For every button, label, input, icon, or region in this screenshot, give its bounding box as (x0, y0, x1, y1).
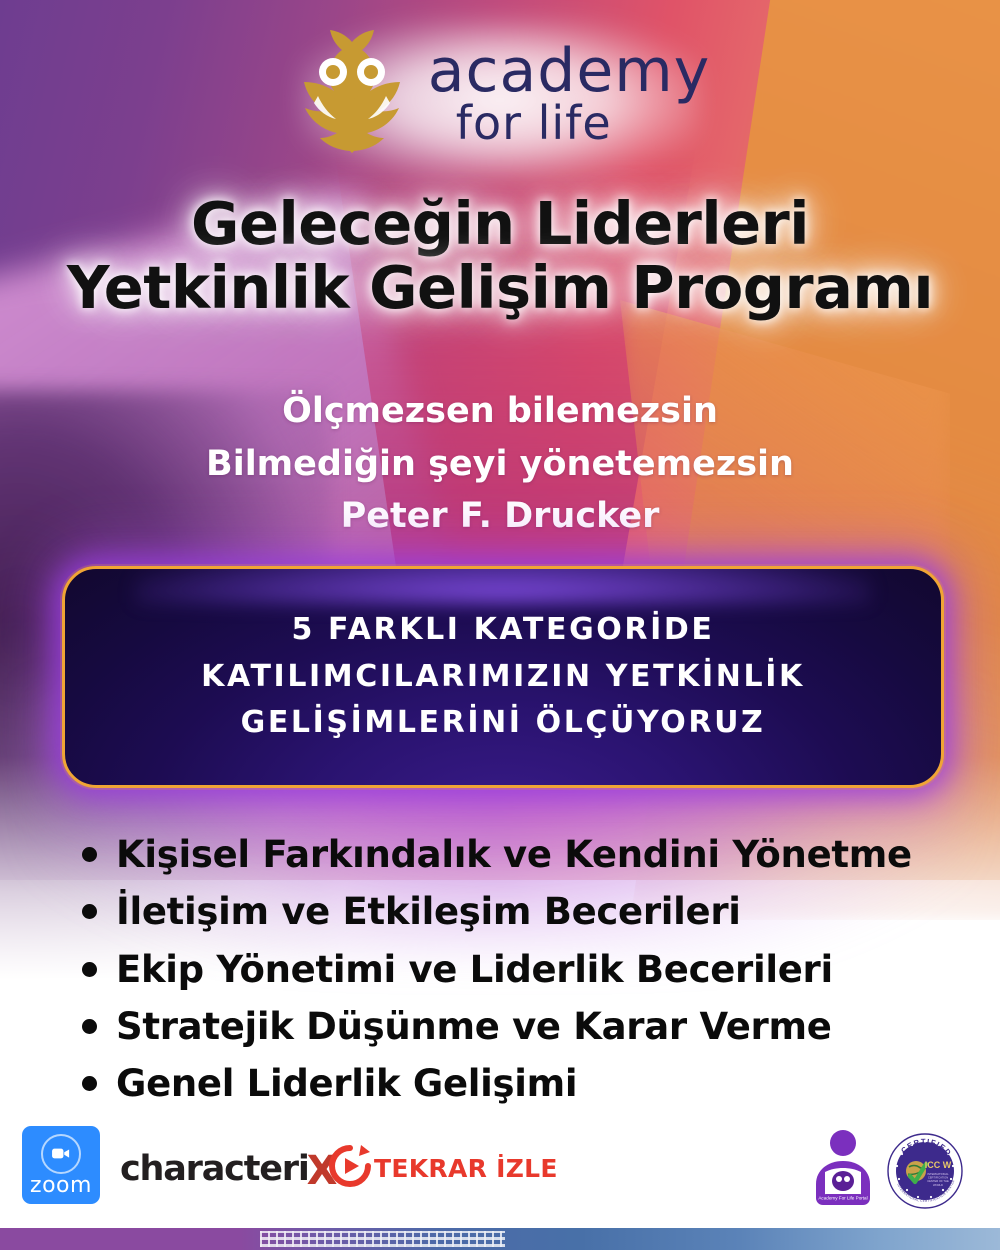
zoom-logo[interactable]: zoom (22, 1126, 100, 1204)
banner-line-3: GELİŞİMLERİNİ ÖLÇÜYORUZ (201, 700, 805, 747)
title-line-1: Geleceğin Liderleri (0, 192, 1000, 256)
list-item-label: Ekip Yönetimi ve Liderlik Becerileri (116, 947, 833, 993)
characterix-word: characteri (120, 1149, 309, 1189)
brand-logo: academy for life (0, 28, 1000, 160)
strip-dot-pattern (260, 1231, 505, 1247)
banner-inner-glow (135, 566, 871, 603)
poster-canvas: academy for life Geleceğin Liderleri Yet… (0, 0, 1000, 1250)
quote-author: Peter F. Drucker (0, 490, 1000, 543)
category-list: Kişisel Farkındalık ve Kendini Yönetme İ… (82, 832, 962, 1118)
list-item-label: Kişisel Farkındalık ve Kendini Yönetme (116, 832, 912, 878)
quote-line-2: Bilmediğin şeyi yönetemezsin (0, 438, 1000, 491)
icc-title: ICC W (925, 1160, 952, 1170)
quote-line-1: Ölçmezsen bilemezsin (0, 385, 1000, 438)
title-line-2: Yetkinlik Gelişim Programı (0, 256, 1000, 320)
logo-word-for-life: for life (428, 102, 710, 145)
list-item-label: Stratejik Düşünme ve Karar Verme (116, 1004, 832, 1050)
bullet-dot-icon (82, 847, 97, 862)
banner-text: 5 FARKLI KATEGORİDE KATILIMCILARIMIZIN Y… (201, 607, 805, 747)
logo-wordmark: academy for life (428, 43, 710, 145)
list-item: Kişisel Farkındalık ve Kendini Yönetme (82, 832, 962, 878)
icc-subtitle-2: CERTIFICATION (928, 1176, 948, 1180)
banner-line-2: KATILIMCILARIMIZIN YETKİNLİK (201, 654, 805, 701)
bullet-dot-icon (82, 962, 97, 977)
icc-certified-badge: ICC W INTERNATIONAL CERTIFICATION CENTER… (886, 1132, 964, 1210)
list-item: İletişim ve Etkileşim Becerileri (82, 889, 962, 935)
list-item-label: İletişim ve Etkileşim Becerileri (116, 889, 741, 935)
video-camera-icon (41, 1134, 81, 1174)
owl-icon (290, 28, 414, 160)
academy-portal-logo[interactable]: Academy For Life Portal (808, 1128, 878, 1212)
portal-label: Academy For Life Portal (818, 1196, 867, 1201)
quote-block: Ölçmezsen bilemezsin Bilmediğin şeyi yön… (0, 385, 1000, 543)
banner-line-1: 5 FARKLI KATEGORİDE (201, 607, 805, 654)
icc-subtitle-4: WORLD (933, 1183, 943, 1187)
icc-subtitle-1: INTERNATIONAL (927, 1172, 949, 1176)
bullet-dot-icon (82, 1019, 97, 1034)
list-item: Genel Liderlik Gelişimi (82, 1061, 962, 1107)
logo-word-academy: academy (428, 43, 710, 99)
replay-play-icon (328, 1144, 372, 1193)
list-item-label: Genel Liderlik Gelişimi (116, 1061, 577, 1107)
list-item: Ekip Yönetimi ve Liderlik Becerileri (82, 947, 962, 993)
tekrar-izle-label: TEKRAR İZLE (374, 1154, 558, 1183)
bottom-accent-strip (0, 1228, 1000, 1250)
icc-subtitle-3: CENTER OF THE (927, 1179, 949, 1183)
tekrar-izle-logo[interactable]: TEKRAR İZLE (328, 1144, 558, 1193)
bullet-dot-icon (82, 1076, 97, 1091)
characterix-logo[interactable]: characteri X (120, 1146, 337, 1192)
partner-logo-bar: zoom characteri X TEKRAR İZLE (0, 1124, 1000, 1224)
bullet-dot-icon (82, 904, 97, 919)
highlight-banner: 5 FARKLI KATEGORİDE KATILIMCILARIMIZIN Y… (62, 566, 944, 788)
page-title: Geleceğin Liderleri Yetkinlik Gelişim Pr… (0, 192, 1000, 319)
zoom-label: zoom (30, 1175, 92, 1197)
list-item: Stratejik Düşünme ve Karar Verme (82, 1004, 962, 1050)
